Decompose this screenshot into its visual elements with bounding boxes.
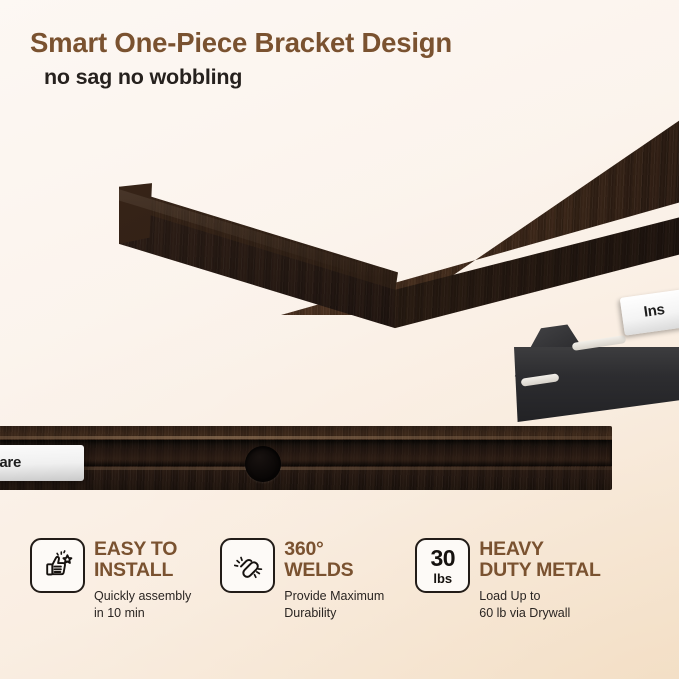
thumbs-up-star-icon <box>30 538 85 593</box>
feature-subtext-line1: Provide Maximum <box>284 589 384 603</box>
feature-subtext-line2: in 10 min <box>94 606 145 620</box>
weight-badge-icon: 30 lbs <box>415 538 470 593</box>
shelf-routed-channel <box>0 440 612 466</box>
feature-heading: EASY TO INSTALL <box>94 539 191 580</box>
product-label-upper: Ins <box>620 288 679 335</box>
feature-text-block: 360° WELDS Provide Maximum Durability <box>284 538 384 621</box>
wood-grain-texture <box>0 440 612 466</box>
product-label-upper-text: Ins <box>643 301 666 321</box>
shelf-back-bottom-highlight <box>0 467 612 470</box>
weight-badge-unit: lbs <box>433 572 452 585</box>
shelf-mounting-hole <box>245 446 281 482</box>
feature-heading-line2: INSTALL <box>94 559 173 581</box>
feature-heading-line2: WELDS <box>284 559 353 581</box>
shelf-back-top-highlight <box>0 436 612 439</box>
feature-heading-line2: DUTY METAL <box>479 559 600 581</box>
lower-product-image <box>0 421 679 511</box>
feature-subtext-line2: Durability <box>284 606 336 620</box>
hero-product-image: Ins <box>0 100 679 380</box>
weight-badge-number: 30 <box>430 547 455 570</box>
headline-block: Smart One-Piece Bracket Design no sag no… <box>30 28 452 90</box>
feature-heavy-duty-metal: 30 lbs HEAVY DUTY METAL Load Up to 60 lb… <box>415 538 600 621</box>
feature-subtext: Load Up to 60 lb via Drywall <box>479 588 600 621</box>
page-subtitle: no sag no wobbling <box>44 65 452 90</box>
product-label-lower-text: ware <box>0 454 21 471</box>
page-title: Smart One-Piece Bracket Design <box>30 28 452 58</box>
feature-subtext-line1: Quickly assembly <box>94 589 191 603</box>
weight-badge-value: 30 lbs <box>430 547 455 585</box>
feature-heading: HEAVY DUTY METAL <box>479 539 600 580</box>
feature-subtext-line2: 60 lb via Drywall <box>479 606 570 620</box>
feature-heading-line1: 360° <box>284 538 323 560</box>
feature-subtext-line1: Load Up to <box>479 589 540 603</box>
feature-subtext: Quickly assembly in 10 min <box>94 588 191 621</box>
feature-heading: 360° WELDS <box>284 539 384 580</box>
feature-row: EASY TO INSTALL Quickly assembly in 10 m… <box>0 538 679 648</box>
feature-text-block: EASY TO INSTALL Quickly assembly in 10 m… <box>94 538 191 621</box>
feature-heading-line1: EASY TO <box>94 538 177 560</box>
feature-subtext: Provide Maximum Durability <box>284 588 384 621</box>
feature-easy-to-install: EASY TO INSTALL Quickly assembly in 10 m… <box>30 538 191 621</box>
feature-text-block: HEAVY DUTY METAL Load Up to 60 lb via Dr… <box>479 538 600 621</box>
product-label-lower: ware <box>0 445 84 481</box>
chain-weld-icon <box>220 538 275 593</box>
feature-360-welds: 360° WELDS Provide Maximum Durability <box>220 538 384 621</box>
feature-heading-line1: HEAVY <box>479 538 544 560</box>
